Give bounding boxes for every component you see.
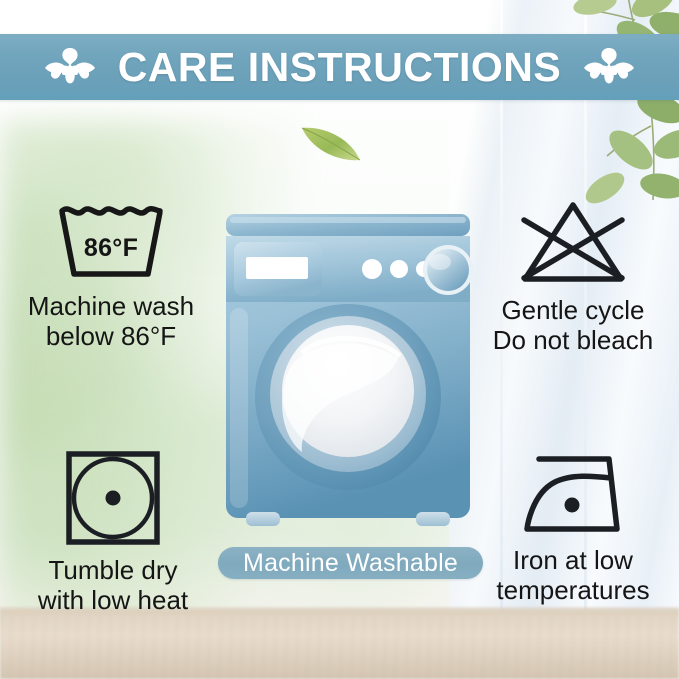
care-item-tumble-dry: Tumble dry with low heat bbox=[10, 450, 216, 615]
floating-leaf-icon bbox=[298, 120, 364, 166]
indicator-light bbox=[390, 260, 408, 278]
care-item-label: Tumble dry with low heat bbox=[38, 556, 188, 615]
table-grain bbox=[0, 617, 679, 679]
tumble-dry-low-icon bbox=[65, 450, 161, 546]
eucalyptus-leaf-branch-icon bbox=[535, 0, 679, 216]
care-item-label: Iron at low temperatures bbox=[496, 546, 649, 605]
care-item-label: Gentle cycle Do not bleach bbox=[493, 296, 653, 355]
banner: CARE INSTRUCTIONS bbox=[0, 34, 679, 100]
care-item-label: Machine wash below 86°F bbox=[28, 292, 194, 351]
do-not-bleach-triangle-icon bbox=[515, 200, 631, 286]
care-item-do-not-bleach: Gentle cycle Do not bleach bbox=[470, 200, 676, 355]
indicator-light bbox=[362, 259, 382, 279]
wash-tub-icon: 86°F bbox=[56, 200, 166, 282]
care-item-machine-wash: 86°F Machine wash below 86°F bbox=[8, 200, 214, 351]
fleur-de-lis-icon-right bbox=[583, 44, 635, 90]
program-knob bbox=[427, 249, 469, 291]
fleur-de-lis-icon-left bbox=[44, 44, 96, 90]
machine-washable-badge: Machine Washable bbox=[218, 547, 483, 579]
washing-machine-illustration bbox=[220, 212, 476, 532]
care-item-iron-low: Iron at low temperatures bbox=[470, 450, 676, 605]
detergent-drawer-slot bbox=[246, 257, 308, 279]
badge-label: Machine Washable bbox=[243, 549, 458, 578]
iron-low-heat-icon bbox=[515, 450, 631, 536]
machine-foot bbox=[416, 512, 450, 526]
machine-foot bbox=[246, 512, 280, 526]
banner-title: CARE INSTRUCTIONS bbox=[118, 44, 562, 91]
care-instructions-graphic: CARE INSTRUCTIONS 86°F bbox=[0, 0, 679, 679]
wash-temperature-value: 86°F bbox=[56, 234, 166, 263]
